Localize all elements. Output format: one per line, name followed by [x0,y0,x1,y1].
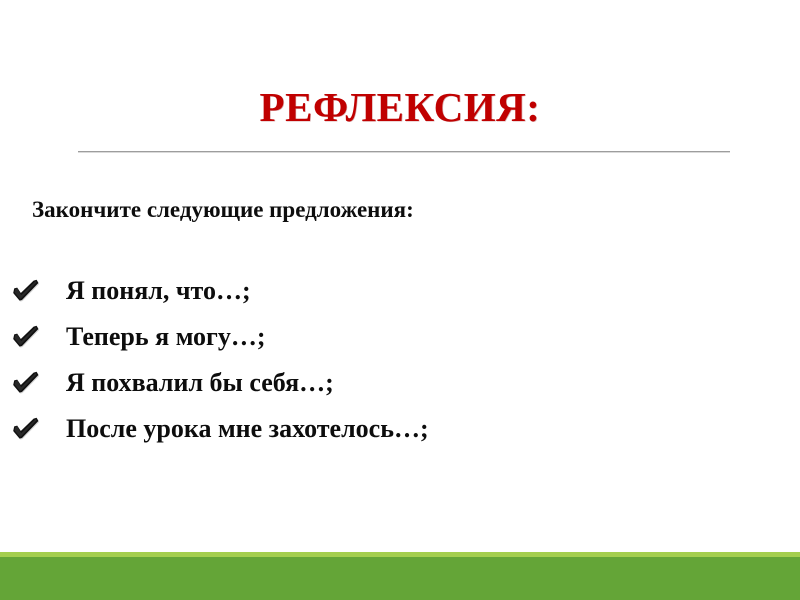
page-title: РЕФЛЕКСИЯ: [260,86,541,129]
check-mark-icon [12,324,42,350]
list-item-label: Я понял, что…; [66,277,251,306]
title-divider [78,151,730,153]
subtitle-text: Закончите следующие предложения: [32,196,414,224]
list-item: Теперь я могу…; [12,314,752,360]
check-mark-icon [12,416,42,442]
check-mark-icon [12,370,42,396]
list-item: После урока мне захотелось…; [12,406,752,452]
list-item-label: Я похвалил бы себя…; [66,369,334,398]
list-item: Я похвалил бы себя…; [12,360,752,406]
list-item-label: Теперь я могу…; [66,323,266,352]
footer-band [0,557,800,600]
check-mark-icon [12,278,42,304]
slide-canvas: РЕФЛЕКСИЯ: Закончите следующие предложен… [0,0,800,600]
list-item-label: После урока мне захотелось…; [66,415,429,444]
reflection-sentence-list: Я понял, что…; Теперь я могу…; Я похвали… [12,268,752,452]
list-item: Я понял, что…; [12,268,752,314]
title-block: РЕФЛЕКСИЯ: [0,86,800,129]
